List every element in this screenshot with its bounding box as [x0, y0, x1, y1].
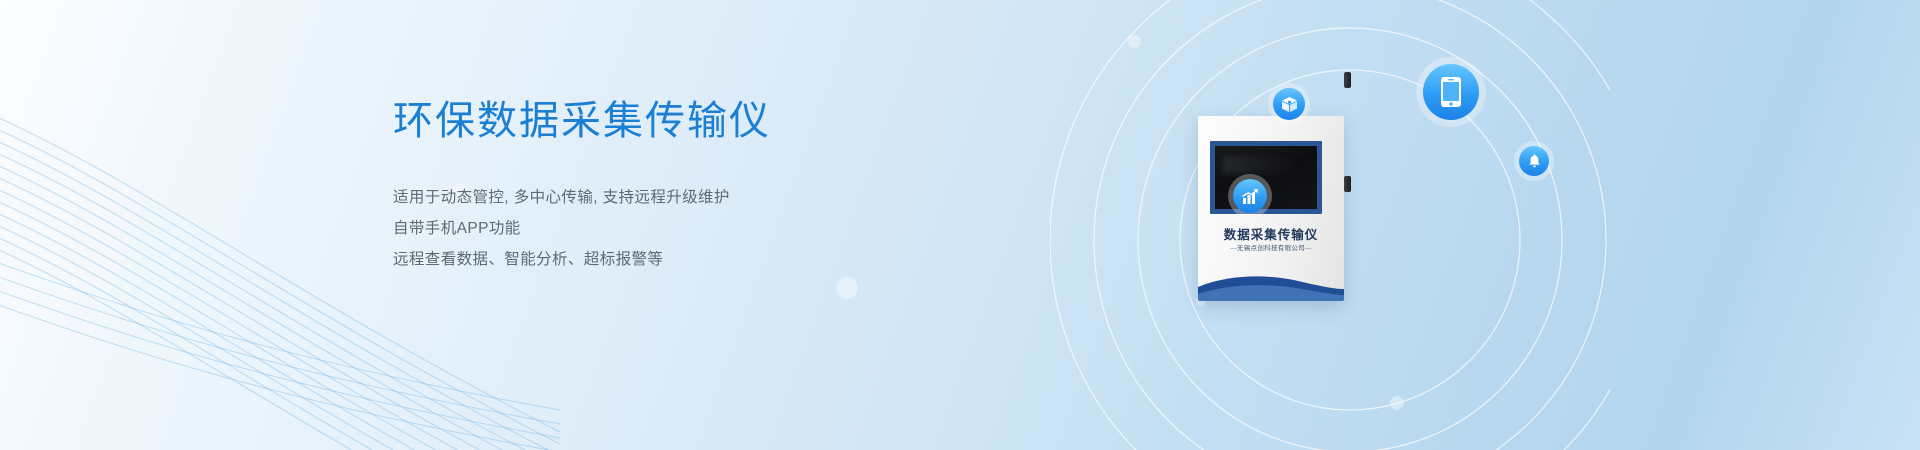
package-box-glyph	[1281, 96, 1298, 113]
product-illustration: 数据采集传输仪 —无锡点创科技有限公司—	[1180, 30, 1620, 430]
bar-chart-growth-icon[interactable]	[1233, 179, 1267, 213]
mobile-phone-icon[interactable]	[1423, 64, 1479, 120]
decorative-bubble	[1128, 35, 1141, 48]
device-panel-subtitle: —无锡点创科技有限公司—	[1198, 242, 1344, 252]
bar-chart-growth-glyph	[1241, 187, 1260, 206]
hero-text-block: 环保数据采集传输仪 适用于动态管控, 多中心传输, 支持远程升级维护 自带手机A…	[393, 96, 1013, 275]
product-hero-banner: 环保数据采集传输仪 适用于动态管控, 多中心传输, 支持远程升级维护 自带手机A…	[0, 0, 1920, 450]
feature-list-item: 自带手机APP功能	[393, 213, 1013, 244]
data-acquisition-device: 数据采集传输仪 —无锡点创科技有限公司—	[1198, 116, 1344, 301]
device-screen-bezel	[1210, 141, 1322, 214]
feature-list-item: 远程查看数据、智能分析、超标报警等	[393, 244, 1013, 275]
feature-list-item: 适用于动态管控, 多中心传输, 支持远程升级维护	[393, 182, 1013, 213]
decorative-bubble	[836, 277, 858, 299]
device-hinge	[1344, 176, 1351, 192]
page-title: 环保数据采集传输仪	[393, 96, 1013, 146]
alarm-bell-glyph	[1527, 154, 1542, 169]
mobile-phone-glyph	[1440, 76, 1462, 108]
package-box-icon[interactable]	[1273, 88, 1305, 120]
alarm-bell-icon[interactable]	[1519, 146, 1549, 176]
device-panel-title: 数据采集传输仪	[1198, 224, 1344, 243]
device-wave-graphic	[1198, 267, 1344, 301]
device-hinge	[1344, 72, 1351, 88]
feature-list: 适用于动态管控, 多中心传输, 支持远程升级维护 自带手机APP功能 远程查看数…	[393, 182, 1013, 275]
